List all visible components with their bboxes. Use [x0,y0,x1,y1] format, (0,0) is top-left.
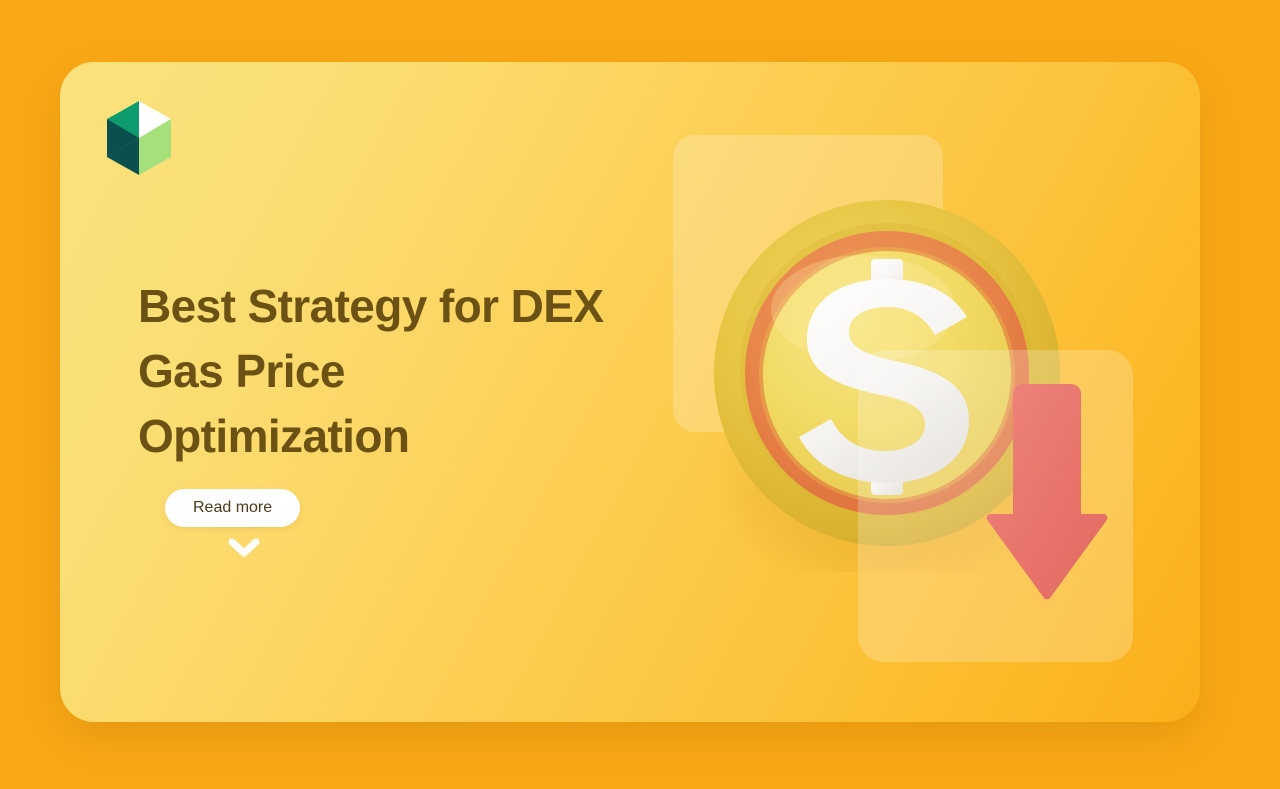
promo-card: Best Strategy for DEX Gas Price Optimiza… [60,62,1200,722]
chevron-down-icon[interactable] [227,537,261,559]
page-title: Best Strategy for DEX Gas Price Optimiza… [138,274,618,469]
read-more-button[interactable]: Read more [165,489,300,527]
hexagon-cube-logo [105,100,173,176]
arrow-down-icon [985,374,1109,606]
